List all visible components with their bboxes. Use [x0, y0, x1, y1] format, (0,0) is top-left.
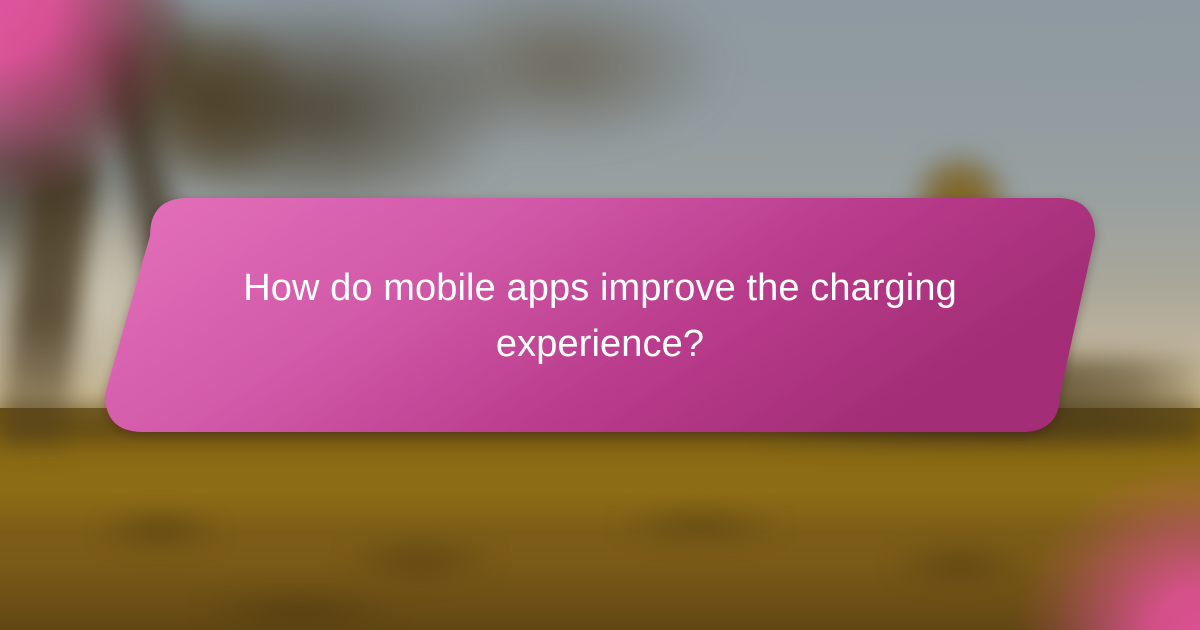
question-text: How do mobile apps improve the charging …: [200, 198, 1000, 433]
social-card-canvas: How do mobile apps improve the charging …: [0, 0, 1200, 630]
question-banner: How do mobile apps improve the charging …: [0, 0, 1200, 630]
question-line-1: How do mobile apps improve the charging: [243, 260, 957, 316]
question-line-2: experience?: [496, 316, 704, 372]
